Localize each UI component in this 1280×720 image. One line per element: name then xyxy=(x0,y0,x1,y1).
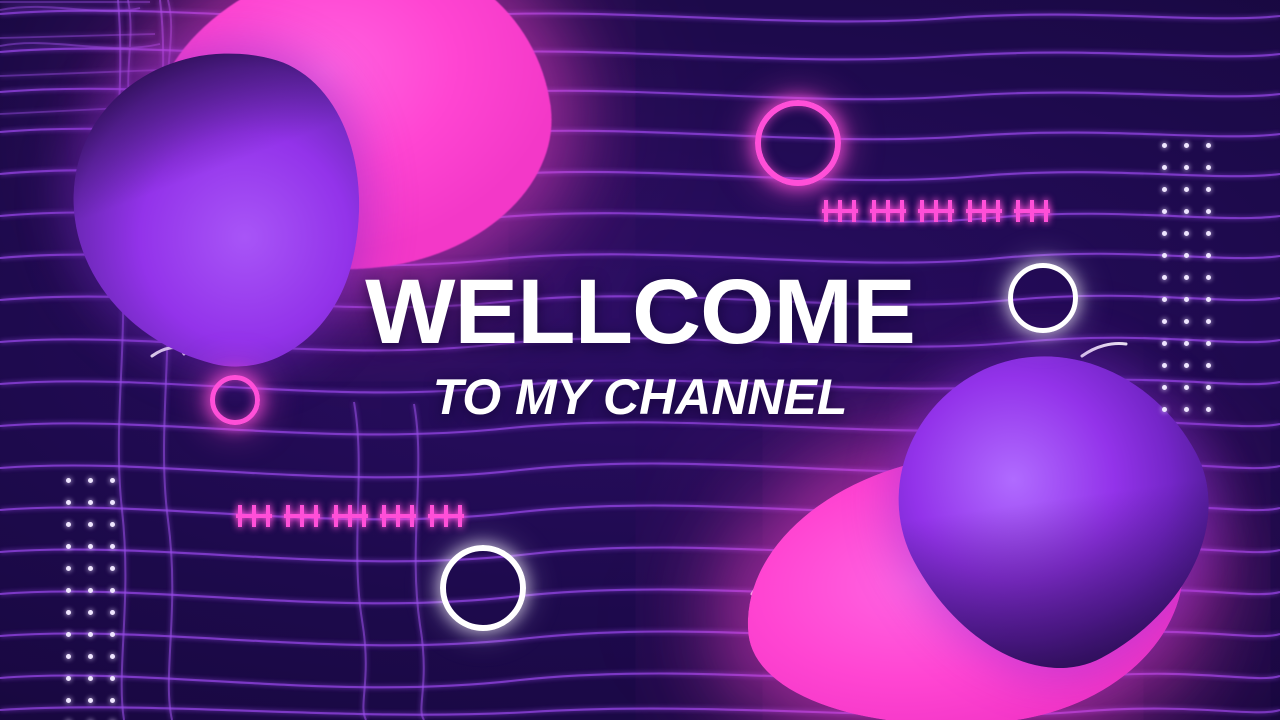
arc-accent-top-left xyxy=(513,108,526,152)
ring-pink-left xyxy=(210,375,260,425)
welcome-banner: WELLCOME TO MY CHANNEL xyxy=(0,0,1280,720)
ring-white-bottom xyxy=(440,545,526,631)
ring-white-right xyxy=(1008,263,1078,333)
ring-pink-top-right xyxy=(755,100,841,186)
arc-accent-right xyxy=(1082,344,1126,357)
topographic-wave-background xyxy=(0,0,1280,720)
arc-accent-bottom-right xyxy=(752,560,790,594)
